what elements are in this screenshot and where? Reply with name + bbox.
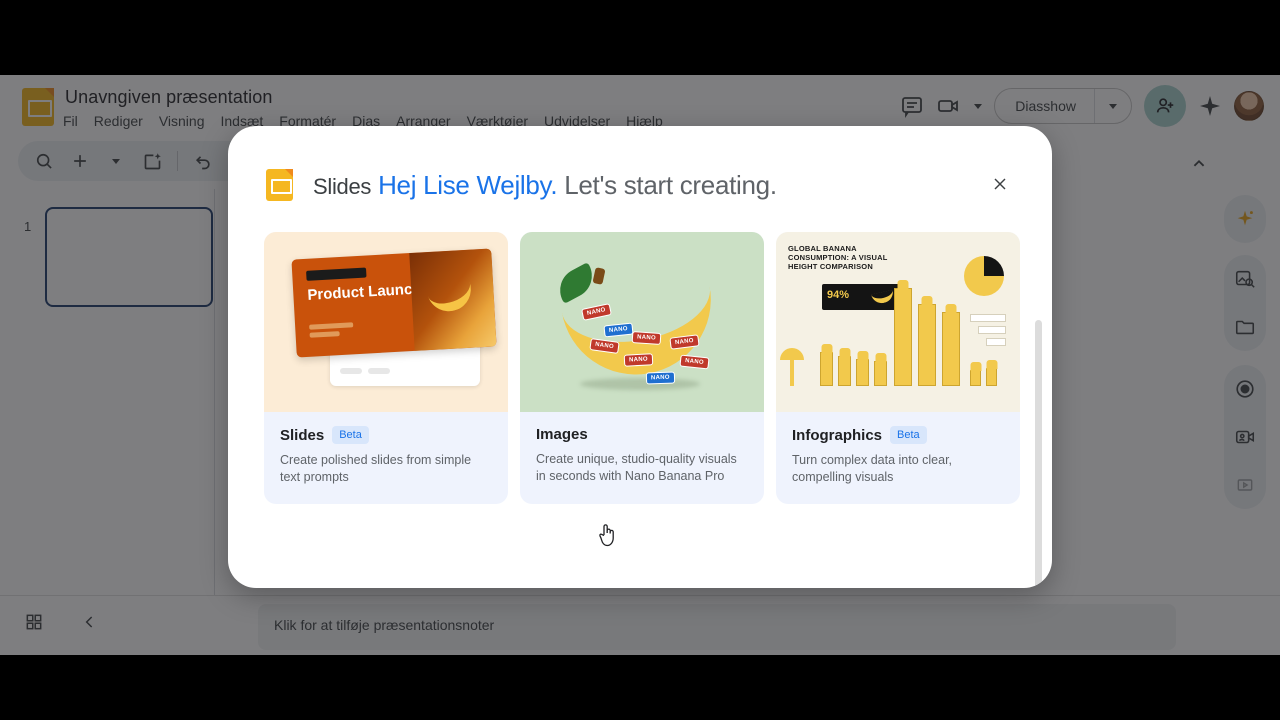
feature-card-infographics[interactable]: GLOBAL BANANA CONSUMPTION: A VISUAL HEIG… <box>776 232 1020 504</box>
dialog-product-name: Slides <box>313 174 371 199</box>
nano-sticker: NANO <box>679 355 709 370</box>
card-title: Infographics <box>792 427 882 444</box>
company-name-tag <box>306 268 366 281</box>
nano-sticker: NANO <box>669 334 699 349</box>
slides-preview-art: Product Launch <box>264 232 508 412</box>
chart-bar <box>874 361 887 386</box>
screenshot-root: Unavngiven præsentation Fil Rediger Visn… <box>0 0 1280 720</box>
banana-illustration-art: NANO NANO NANO NANO NANO NANO NANO NANO <box>520 232 764 412</box>
infographic-heading: GLOBAL BANANA CONSUMPTION: A VISUAL HEIG… <box>788 244 898 271</box>
callout-value: 94% <box>827 289 849 301</box>
card-title: Slides <box>280 427 324 444</box>
card-description: Create unique, studio-quality visuals in… <box>536 451 748 485</box>
pointing-hand-cursor <box>597 521 619 552</box>
chart-bar <box>856 359 869 386</box>
nano-sticker: NANO <box>624 353 653 366</box>
beta-badge: Beta <box>890 426 927 444</box>
cards-scroll-region[interactable]: Product Launch Slides Beta Create polish… <box>228 218 1052 588</box>
card-description: Turn complex data into clear, compelling… <box>792 452 1004 486</box>
feature-card-images[interactable]: NANO NANO NANO NANO NANO NANO NANO NANO … <box>520 232 764 504</box>
chart-bar <box>970 370 981 386</box>
feature-card-slides[interactable]: Product Launch Slides Beta Create polish… <box>264 232 508 504</box>
card-body: Infographics Beta Turn complex data into… <box>776 412 1020 504</box>
modal-scrollbar[interactable] <box>1035 320 1042 588</box>
start-creating-dialog: Slides Hej Lise Wejlby. Let's start crea… <box>228 126 1052 588</box>
infographic-preview-art: GLOBAL BANANA CONSUMPTION: A VISUAL HEIG… <box>776 232 1020 412</box>
callout-box: 94% <box>822 284 900 310</box>
chart-bar <box>918 304 936 386</box>
stem-shape <box>592 267 605 285</box>
h-bar <box>986 338 1006 346</box>
dialog-tagline: Let's start creating. <box>564 170 777 200</box>
dialog-greeting: Hej Lise Wejlby. <box>378 170 557 200</box>
front-slide-mock: Product Launch <box>291 248 496 357</box>
pie-chart <box>964 256 1004 296</box>
h-bar <box>978 326 1006 334</box>
nano-sticker: NANO <box>632 331 662 345</box>
palm-trunk <box>790 356 794 386</box>
banana-shape <box>427 278 477 317</box>
card-title: Images <box>536 426 588 443</box>
feature-cards-grid: Product Launch Slides Beta Create polish… <box>264 232 1020 504</box>
dialog-title: Slides Hej Lise Wejlby. Let's start crea… <box>313 168 777 204</box>
letterbox-top <box>0 0 1280 75</box>
chart-bar <box>986 368 997 386</box>
card-body: Images Create unique, studio-quality vis… <box>520 412 764 503</box>
dialog-header: Slides Hej Lise Wejlby. Let's start crea… <box>228 126 1052 218</box>
chart-bar <box>820 352 833 386</box>
chart-bar <box>894 288 912 386</box>
card-description: Create polished slides from simple text … <box>280 452 492 486</box>
nano-sticker: NANO <box>646 371 675 384</box>
chart-bar <box>838 356 851 386</box>
beta-badge: Beta <box>332 426 369 444</box>
shadow <box>580 378 700 390</box>
slides-logo-icon <box>266 169 293 201</box>
slide-image <box>409 248 496 350</box>
slide-heading: Product Launch <box>307 280 422 303</box>
card-body: Slides Beta Create polished slides from … <box>264 412 508 504</box>
chart-bar <box>942 312 960 386</box>
palm-frond <box>780 348 804 360</box>
letterbox-bottom <box>0 655 1280 720</box>
h-bar <box>970 314 1006 322</box>
close-icon[interactable] <box>985 169 1015 199</box>
